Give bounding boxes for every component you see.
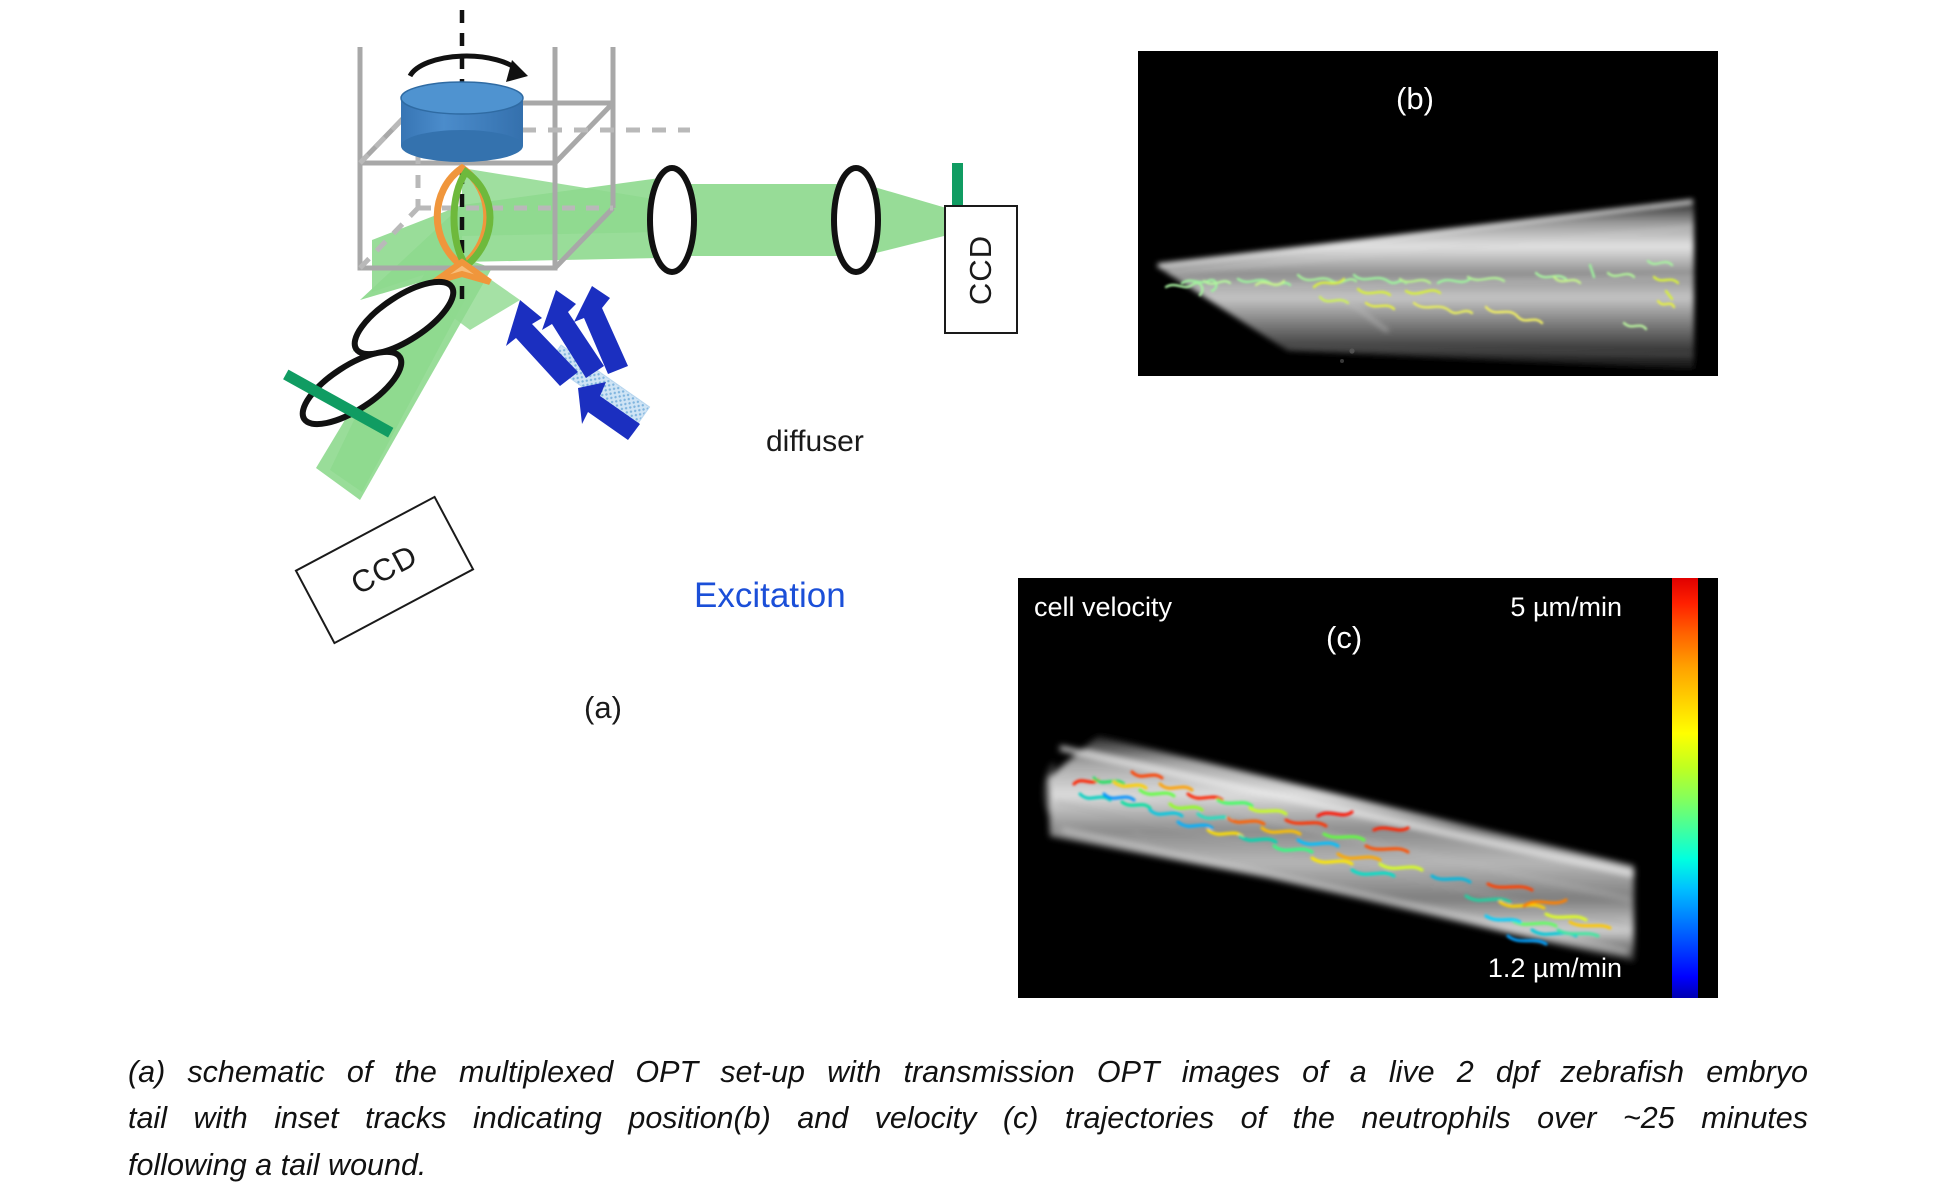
panel-a-label: (a) [584, 690, 622, 726]
ccd-left-label: CCD [345, 538, 424, 603]
chamber-edge-tr [555, 103, 613, 163]
panel-c-label: (c) [1326, 620, 1362, 656]
schematic-svg [0, 0, 1060, 780]
panel-b-position-tracks: (b) [1138, 51, 1718, 376]
colorbar-max-label: 5 µm/min [1510, 592, 1622, 623]
cell-velocity-title: cell velocity [1034, 592, 1172, 623]
ccd-top-label: CCD [963, 234, 999, 304]
figure-caption: (a) schematic of the multiplexed OPT set… [128, 1049, 1808, 1188]
velocity-colorbar [1672, 578, 1698, 998]
caption-line-3: following a tail wound. [128, 1142, 1808, 1188]
panel-a-schematic: diffuser Excitation (a) CCD CCD [0, 0, 1060, 780]
panel-c-velocity-tracks: cell velocity (c) 5 µm/min 1.2 µm/min [1018, 578, 1718, 998]
rotation-stage-cylinder [401, 82, 523, 162]
transmission-lens-1 [650, 168, 694, 272]
transmission-lens-2 [834, 168, 878, 272]
rotation-arrow [410, 56, 528, 82]
ccd-top-detector: CCD [944, 205, 1018, 334]
panel-c-image [1018, 578, 1718, 998]
caption-line-2: tail with inset tracks indicating positi… [128, 1095, 1808, 1141]
caption-line-1: (a) schematic of the multiplexed OPT set… [128, 1049, 1808, 1095]
diffuser-label: diffuser [766, 425, 864, 459]
colorbar-min-label: 1.2 µm/min [1488, 953, 1622, 984]
excitation-label: Excitation [694, 576, 846, 616]
panel-b-label: (b) [1396, 81, 1434, 117]
